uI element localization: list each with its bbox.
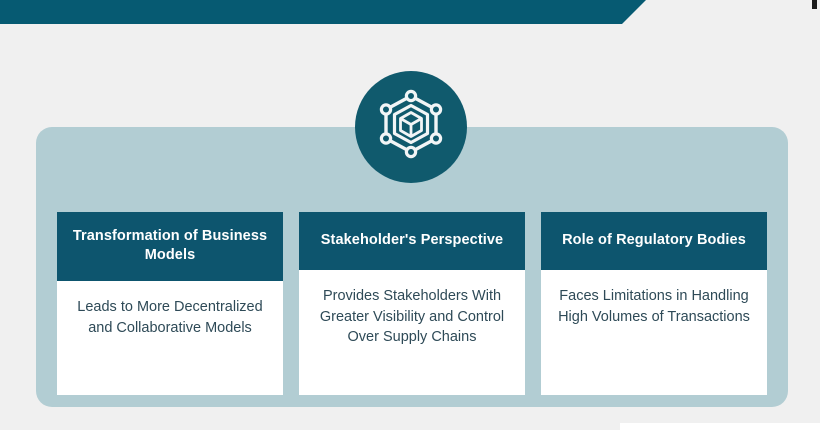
blockchain-network-icon bbox=[374, 88, 448, 166]
card-role-of-regulatory-bodies: Role of Regulatory Bodies Faces Limitati… bbox=[541, 212, 767, 395]
bottom-right-white-block bbox=[620, 423, 820, 430]
card-transformation-of-business-models: Transformation of Business Models Leads … bbox=[57, 212, 283, 395]
card-title: Stakeholder's Perspective bbox=[299, 212, 525, 270]
card-title: Role of Regulatory Bodies bbox=[541, 212, 767, 270]
card-stakeholders-perspective: Stakeholder's Perspective Provides Stake… bbox=[299, 212, 525, 395]
top-right-corner-artifact bbox=[812, 0, 817, 9]
card-description: Leads to More Decentralized and Collabor… bbox=[57, 281, 283, 395]
infographic-canvas: Transformation of Business Models Leads … bbox=[0, 0, 820, 430]
cards-row: Transformation of Business Models Leads … bbox=[57, 212, 767, 395]
card-description: Faces Limitations in Handling High Volum… bbox=[541, 270, 767, 395]
blockchain-network-icon-badge bbox=[355, 71, 467, 183]
top-banner-shape bbox=[0, 0, 646, 24]
card-title: Transformation of Business Models bbox=[57, 212, 283, 281]
card-description: Provides Stakeholders With Greater Visib… bbox=[299, 270, 525, 395]
